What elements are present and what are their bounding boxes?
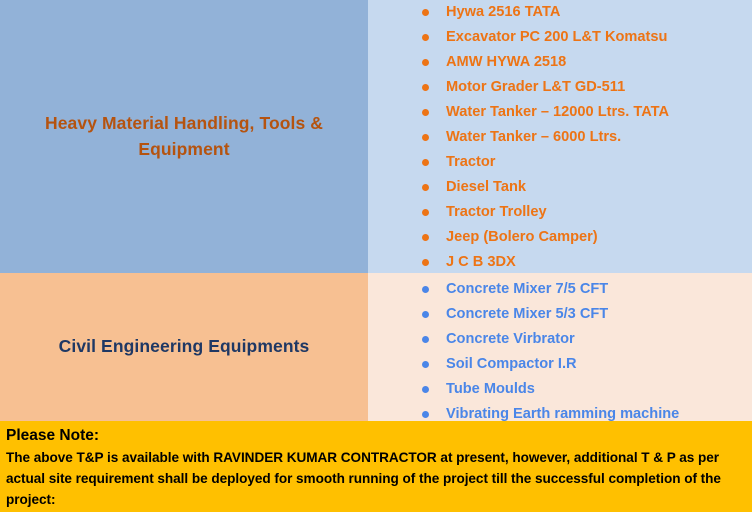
list-item: J C B 3DX [368,250,752,273]
list-item-label: Diesel Tank [446,179,526,195]
equipment-table: Heavy Material Handling, Tools & Equipme… [0,0,752,421]
category-label-heavy-material: Heavy Material Handling, Tools & Equipme… [28,111,340,162]
equipment-list-heavy-material: Hywa 2516 TATA Excavator PC 200 L&T Koma… [368,0,752,273]
list-item: Tractor Trolley [368,200,752,225]
list-item-label: J C B 3DX [446,254,516,270]
list-item: Soil Compactor I.R [368,352,752,377]
list-item-label: Tractor [446,154,495,170]
list-item-label: Concrete Mixer 7/5 CFT [446,281,608,297]
list-item: Hywa 2516 TATA [368,0,752,25]
items-cell-civil-engineering: Concrete Mixer 7/5 CFT Concrete Mixer 5/… [368,273,752,421]
note-title: Please Note: [6,425,746,447]
list-item: Vibrating Earth ramming machine [368,402,752,421]
bullet-icon [422,259,429,266]
list-item: Excavator PC 200 L&T Komatsu [368,25,752,50]
bullet-icon [422,286,429,293]
list-item-label: Tube Moulds [446,381,535,397]
list-item-label: Water Tanker – 6000 Ltrs. [446,129,621,145]
note-body: The above T&P is available with RAVINDER… [6,447,746,510]
bullet-icon [422,386,429,393]
list-item: AMW HYWA 2518 [368,50,752,75]
category-label-civil-engineering: Civil Engineering Equipments [59,334,310,359]
list-item: Tractor [368,150,752,175]
table-row-heavy-material: Heavy Material Handling, Tools & Equipme… [0,0,752,273]
list-item-label: Water Tanker – 12000 Ltrs. TATA [446,104,669,120]
items-cell-heavy-material: Hywa 2516 TATA Excavator PC 200 L&T Koma… [368,0,752,273]
list-item: Tube Moulds [368,377,752,402]
table-row-civil-engineering: Civil Engineering Equipments Concrete Mi… [0,273,752,421]
please-note-band: Please Note: The above T&P is available … [0,421,752,512]
category-cell-civil-engineering: Civil Engineering Equipments [0,273,368,421]
bullet-icon [422,159,429,166]
list-item-label: Vibrating Earth ramming machine [446,406,679,421]
list-item-label: Soil Compactor I.R [446,356,577,372]
category-cell-heavy-material: Heavy Material Handling, Tools & Equipme… [0,0,368,273]
list-item: Concrete Virbrator [368,327,752,352]
bullet-icon [422,59,429,66]
bullet-icon [422,134,429,141]
bullet-icon [422,109,429,116]
list-item: Motor Grader L&T GD-511 [368,75,752,100]
list-item-label: Jeep (Bolero Camper) [446,229,598,245]
list-item-label: Concrete Mixer 5/3 CFT [446,306,608,322]
bullet-icon [422,411,429,418]
list-item: Water Tanker – 12000 Ltrs. TATA [368,100,752,125]
list-item: Concrete Mixer 5/3 CFT [368,302,752,327]
list-item-label: Hywa 2516 TATA [446,4,560,20]
equipment-list-civil-engineering: Concrete Mixer 7/5 CFT Concrete Mixer 5/… [368,273,752,421]
bullet-icon [422,234,429,241]
bullet-icon [422,84,429,91]
list-item: Concrete Mixer 7/5 CFT [368,277,752,302]
slide-root: Heavy Material Handling, Tools & Equipme… [0,0,752,512]
bullet-icon [422,209,429,216]
bullet-icon [422,184,429,191]
list-item-label: Concrete Virbrator [446,331,575,347]
list-item: Jeep (Bolero Camper) [368,225,752,250]
list-item: Water Tanker – 6000 Ltrs. [368,125,752,150]
bullet-icon [422,34,429,41]
list-item-label: Excavator PC 200 L&T Komatsu [446,29,667,45]
list-item-label: Tractor Trolley [446,204,547,220]
bullet-icon [422,311,429,318]
bullet-icon [422,9,429,16]
list-item: Diesel Tank [368,175,752,200]
bullet-icon [422,361,429,368]
list-item-label: Motor Grader L&T GD-511 [446,79,625,95]
list-item-label: AMW HYWA 2518 [446,54,566,70]
bullet-icon [422,336,429,343]
